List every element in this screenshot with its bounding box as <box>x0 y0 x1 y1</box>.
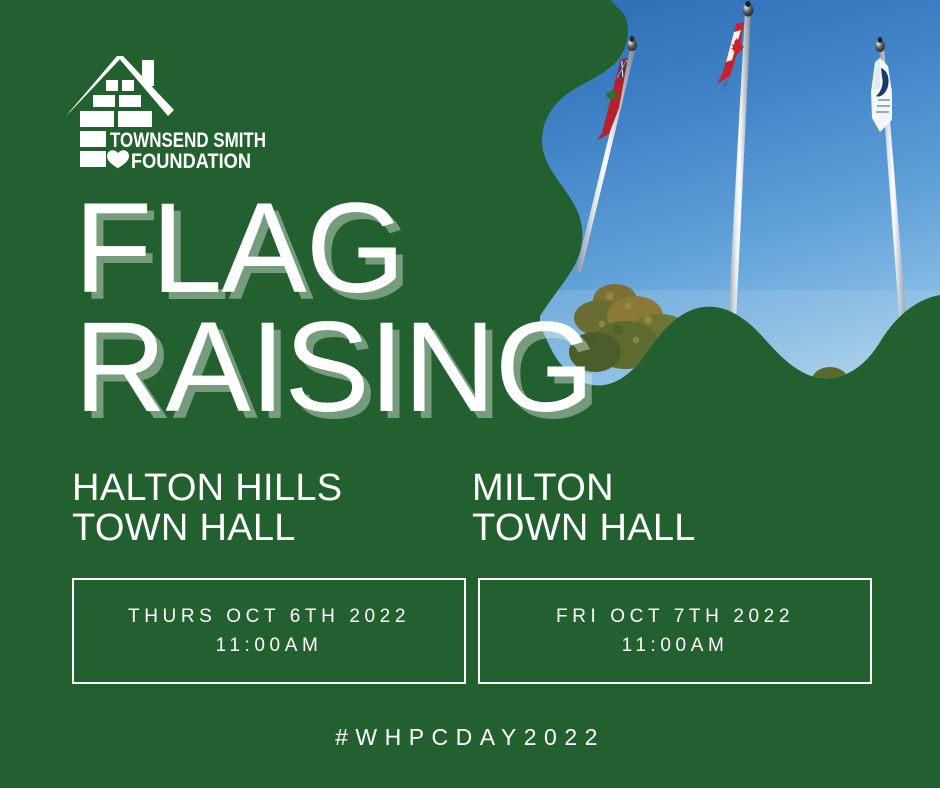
headline-line-raising: RAISING <box>74 305 694 430</box>
headline-line-flag: FLAG <box>74 186 694 311</box>
hashtag: #WHPCDAY2022 <box>0 724 940 751</box>
page-title: FLAG RAISING <box>74 186 694 431</box>
event-time: 11:00AM <box>622 631 729 660</box>
heart-icon <box>107 150 129 168</box>
event-date: FRI OCT 7TH 2022 <box>556 602 794 631</box>
venue-list: HALTON HILLS TOWN HALL MILTON TOWN HALL <box>72 468 872 549</box>
date-box-halton-hills: THURS OCT 6TH 2022 11:00AM <box>72 578 466 684</box>
event-time: 11:00AM <box>216 631 323 660</box>
date-box-row: THURS OCT 6TH 2022 11:00AM FRI OCT 7TH 2… <box>72 578 872 684</box>
venue-name: MILTON TOWN HALL <box>472 468 872 549</box>
venue-milton: MILTON TOWN HALL <box>472 468 872 549</box>
poster-canvas: TOWNSEND SMITH FOUNDATION FLAG RAISING H… <box>0 0 940 788</box>
venue-name: HALTON HILLS TOWN HALL <box>72 468 472 549</box>
date-box-milton: FRI OCT 7TH 2022 11:00AM <box>478 578 872 684</box>
event-date: THURS OCT 6TH 2022 <box>128 602 410 631</box>
townsend-smith-foundation-logo: TOWNSEND SMITH FOUNDATION <box>60 55 330 170</box>
venue-halton-hills: HALTON HILLS TOWN HALL <box>72 468 472 549</box>
logo-line2: FOUNDATION <box>131 149 251 170</box>
